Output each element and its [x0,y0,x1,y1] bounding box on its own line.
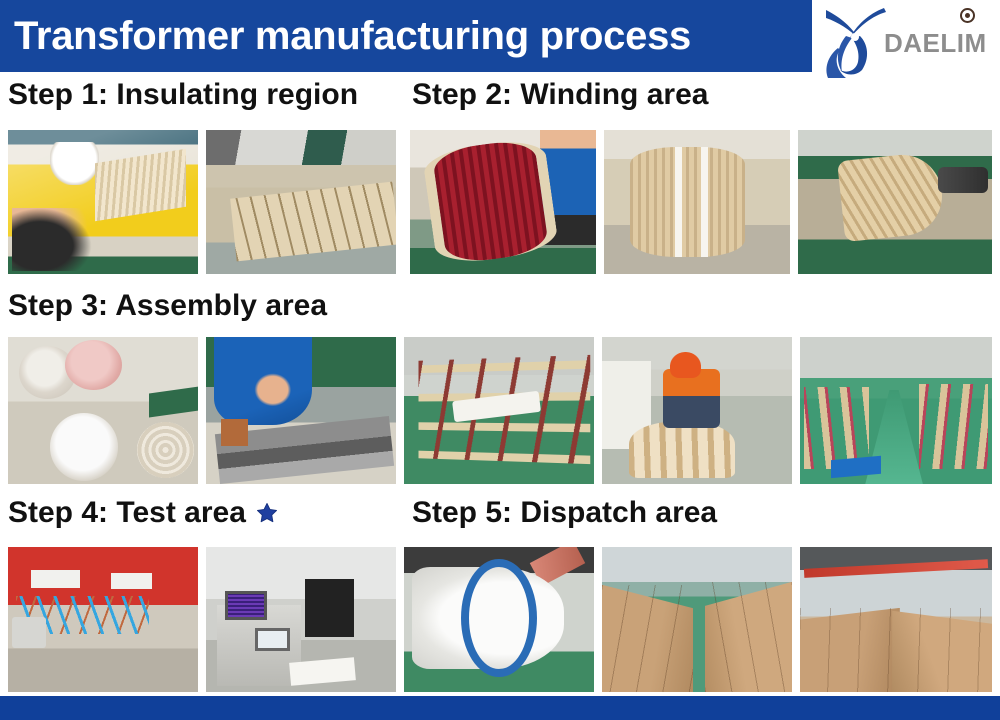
step-label-3: Step 3: Assembly area [8,291,327,321]
photo-winding-2[interactable] [604,130,790,274]
step-heading-3: Step 3: Assembly area [8,291,327,321]
photo-test-2[interactable] [206,547,396,692]
photo-dispatch-3[interactable] [800,547,992,692]
brand-logo: DAELIM [822,2,994,78]
step-heading-1: Step 1: Insulating region [8,80,358,110]
step-heading-4: Step 4: Test area [8,498,278,528]
slide-root: Transformer manufacturing process DAELIM… [0,0,1000,720]
photo-winding-1[interactable] [410,130,596,274]
step-label-4: Step 4: Test area [8,498,246,528]
header-bar: Transformer manufacturing process [0,0,812,72]
step-label-5: Step 5: Dispatch area [412,498,717,528]
photo-assembly-5[interactable] [602,337,792,484]
brand-name: DAELIM [884,28,987,59]
photo-dispatch-2[interactable] [602,547,792,692]
photo-dispatch-1[interactable] [404,547,594,692]
photo-insulating-1[interactable] [8,130,198,274]
photo-assembly-6[interactable] [800,337,992,484]
page-title: Transformer manufacturing process [0,16,691,56]
step-heading-5: Step 5: Dispatch area [412,498,717,528]
step-label-1: Step 1: Insulating region [8,80,358,110]
photo-assembly-4[interactable] [404,337,594,484]
photo-test-1[interactable] [8,547,198,692]
footer-band [0,696,1000,720]
registered-trademark-icon [960,8,975,23]
photo-insulating-2[interactable] [206,130,396,274]
photo-assembly-2[interactable] [206,337,396,484]
step-label-2: Step 2: Winding area [412,80,708,110]
photo-winding-3[interactable] [798,130,992,274]
step-heading-2: Step 2: Winding area [412,80,708,110]
star-icon [256,502,278,524]
photo-assembly-1[interactable] [8,337,198,484]
